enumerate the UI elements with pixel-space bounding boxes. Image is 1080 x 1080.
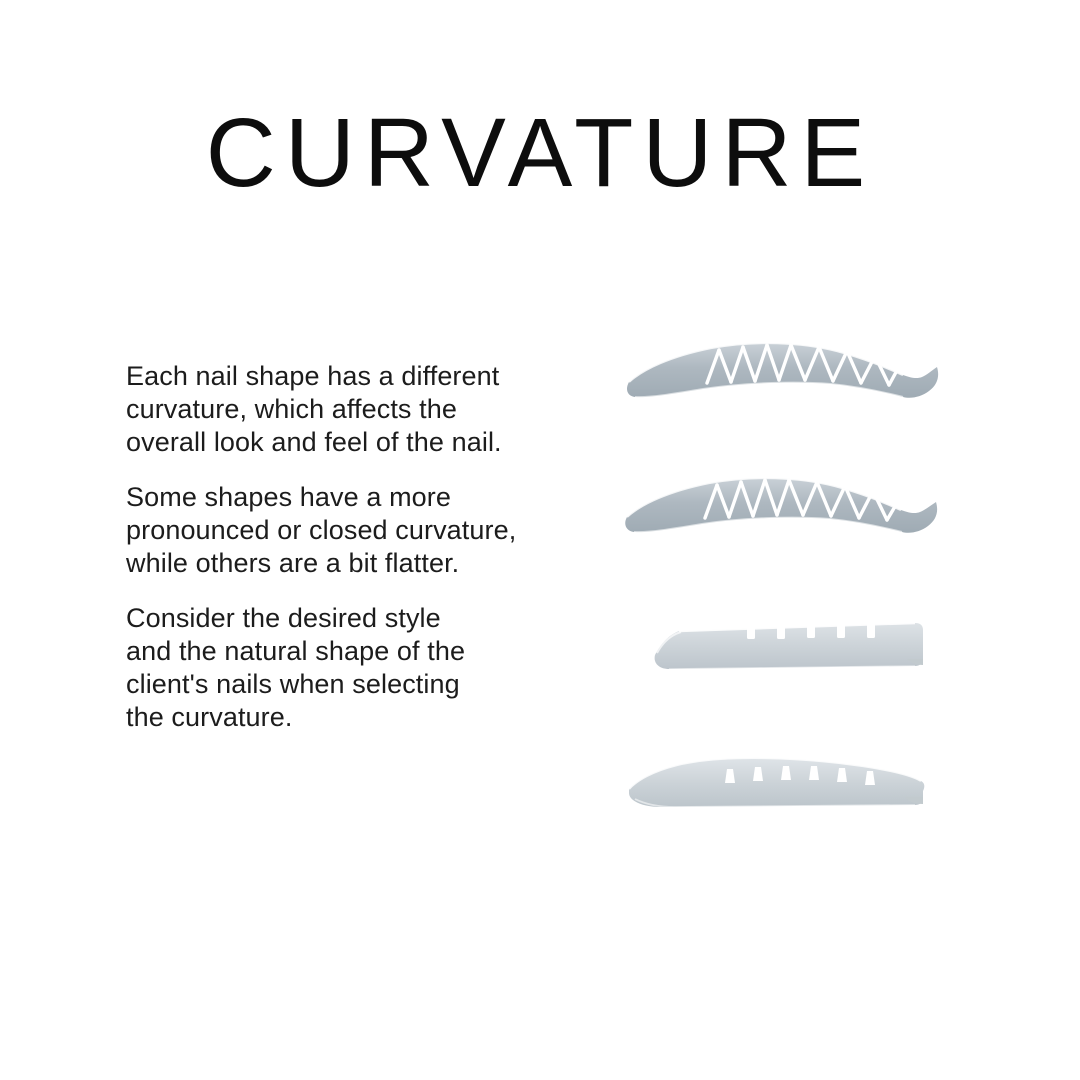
page-title: CURVATURE <box>0 104 1080 201</box>
body-copy-column: Each nail shape has a different curvatur… <box>126 360 606 734</box>
nail-form-illustrations <box>615 325 975 845</box>
paragraph-3: Consider the desired style and the natur… <box>126 602 606 734</box>
nail-form-curved-2 <box>615 461 975 581</box>
paragraph-2: Some shapes have a more pronounced or cl… <box>126 481 606 580</box>
slide-canvas: CURVATURE Each nail shape has a differen… <box>0 0 1080 1080</box>
nail-form-tapered <box>615 733 975 853</box>
nail-form-curved-1 <box>615 325 975 445</box>
paragraph-1: Each nail shape has a different curvatur… <box>126 360 606 459</box>
nail-form-flat <box>615 593 975 713</box>
